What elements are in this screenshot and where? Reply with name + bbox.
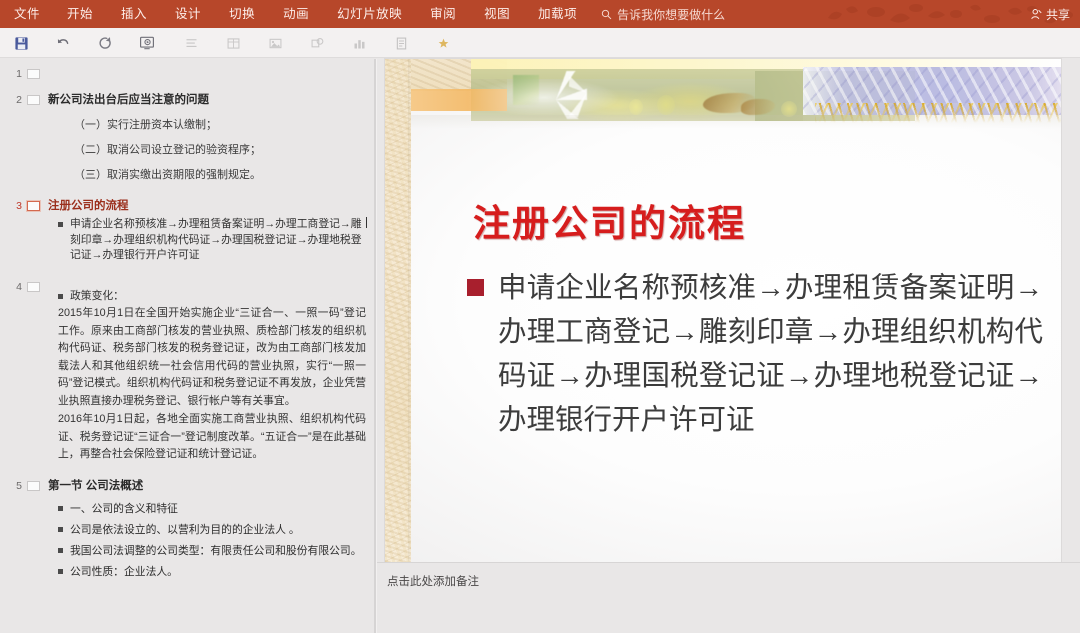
outline-paragraph[interactable]: 2016年10月1日起，各地全面实施工商营业执照、组织机构代码证、税务登记证“三…	[48, 411, 366, 464]
outline-line-text: 公司性质：企业法人。	[70, 564, 178, 580]
outline-slide-body: 新公司法出台后应当注意的问题 （一）实行注册资本认缴制； （二）取消公司设立登记…	[40, 91, 366, 183]
redo-button[interactable]	[84, 28, 126, 58]
share-label: 共享	[1046, 6, 1070, 23]
tab-view[interactable]: 视图	[470, 0, 524, 28]
toolbar-notes-button[interactable]	[380, 28, 422, 58]
slide-editing-pane: 注册公司的流程 申请企业名称预核准→办理租赁备案证明→办理工商登记→雕刻印章→办…	[377, 59, 1080, 562]
outline-line[interactable]: 一、公司的含义和特征	[48, 501, 366, 517]
tab-insert[interactable]: 插入	[107, 0, 161, 28]
outline-pane-footer	[0, 590, 374, 633]
outline-slide-3[interactable]: 3 注册公司的流程 申请企业名称预核准→办理租赁备案证明→办理工商登记→雕刻印章…	[8, 197, 366, 264]
notes-pane[interactable]: 点击此处添加备注	[377, 562, 1080, 633]
outline-slide-body: 注册公司的流程 申请企业名称预核准→办理租赁备案证明→办理工商登记→雕刻印章→办…	[40, 197, 366, 264]
bullet-square-icon	[58, 527, 63, 532]
current-slide[interactable]: 注册公司的流程 申请企业名称预核准→办理租赁备案证明→办理工商登记→雕刻印章→办…	[385, 59, 1061, 562]
slide-body-text: 申请企业名称预核准→办理租赁备案证明→办理工商登记→雕刻印章→办理组织机构代码证…	[498, 267, 1043, 443]
search-icon	[601, 9, 612, 20]
outline-line[interactable]: （三）取消实缴出资期限的强制规定。	[48, 167, 366, 183]
outline-line[interactable]: （一）实行注册资本认缴制；	[48, 117, 366, 133]
bullet-square-icon	[467, 279, 484, 296]
undo-icon	[55, 35, 71, 51]
table-icon	[226, 36, 241, 51]
outline-slide-body: 政策变化： 2015年10月1日在全国开始实施企业“三证合一、一照一码”登记工作…	[40, 278, 366, 464]
outline-slide-body: 第一节 公司法概述 一、公司的含义和特征 公司是依法设立的、以营利为目的的企业法…	[40, 477, 366, 580]
ribbon-bar: 文件 开始 插入 设计 切换 动画 幻灯片放映 审阅 视图 加载项 告诉我你想要…	[0, 0, 1080, 28]
banner-dot-a	[629, 99, 643, 115]
slide-thumb-icon[interactable]	[27, 481, 40, 491]
powerpoint-window: 文件 开始 插入 设计 切换 动画 幻灯片放映 审阅 视图 加载项 告诉我你想要…	[0, 0, 1080, 633]
outline-slide-2[interactable]: 2 新公司法出台后应当注意的问题 （一）实行注册资本认缴制； （二）取消公司设立…	[8, 91, 366, 183]
tell-me-box[interactable]: 告诉我你想要做什么	[591, 6, 725, 23]
share-button[interactable]: 共享	[1030, 0, 1070, 28]
outline-pane[interactable]: 1 2 新公司法出台后应当注意的问题 （一）实行注册资本认缴制； （二）取消公司…	[0, 59, 374, 633]
tell-me-label: 告诉我你想要做什么	[617, 6, 725, 23]
toolbar-table-button[interactable]	[212, 28, 254, 58]
outline-slide-number: 3	[8, 197, 22, 264]
banner-dot-b	[657, 95, 675, 115]
tab-review[interactable]: 审阅	[416, 0, 470, 28]
outline-slide-title[interactable]: 注册公司的流程	[48, 197, 366, 214]
outline-line-text: 公司是依法设立的、以营利为目的的企业法人 。	[70, 522, 300, 538]
slide-left-texture-border	[385, 59, 411, 562]
banner-leaf-white-b	[569, 77, 613, 117]
outline-slide-4[interactable]: 4 政策变化： 2015年10月1日在全国开始实施企业“三证合一、一照一码”登记…	[8, 278, 366, 464]
outline-slide-body	[40, 65, 366, 81]
slide-body-placeholder[interactable]: 申请企业名称预核准→办理租赁备案证明→办理工商登记→雕刻印章→办理组织机构代码证…	[467, 267, 1043, 443]
toolbar-animation-button[interactable]	[422, 28, 464, 58]
outline-slide-number: 4	[8, 278, 22, 464]
redo-icon	[97, 35, 113, 51]
save-icon	[14, 36, 29, 51]
outline-line[interactable]: 公司性质：企业法人。	[48, 564, 366, 580]
tab-slideshow[interactable]: 幻灯片放映	[323, 0, 416, 28]
toolbar-chart-button[interactable]	[338, 28, 380, 58]
tab-design[interactable]: 设计	[161, 0, 215, 28]
bullet-square-icon	[58, 294, 63, 299]
list-icon	[184, 36, 199, 51]
bullet-square-icon	[58, 548, 63, 553]
banner-orange-band	[411, 89, 507, 111]
toolbar-shapes-button[interactable]	[296, 28, 338, 58]
undo-button[interactable]	[42, 28, 84, 58]
outline-scroll-content: 1 2 新公司法出台后应当注意的问题 （一）实行注册资本认缴制； （二）取消公司…	[0, 59, 374, 580]
quick-access-toolbar	[0, 28, 1080, 58]
chart-icon	[352, 36, 367, 51]
save-button[interactable]	[0, 28, 42, 58]
tab-home[interactable]: 开始	[53, 0, 107, 28]
outline-line-text: 一、公司的含义和特征	[70, 501, 178, 517]
outline-slide-number: 2	[8, 91, 22, 183]
outline-line[interactable]: 公司是依法设立的、以营利为目的的企业法人 。	[48, 522, 366, 538]
bullet-square-icon	[58, 569, 63, 574]
slide-header-banner	[385, 59, 1061, 121]
outline-slide-number: 5	[8, 477, 22, 580]
tab-file[interactable]: 文件	[0, 0, 53, 28]
bullet-square-icon	[58, 506, 63, 511]
slide-thumb-icon[interactable]	[27, 282, 40, 292]
tab-transitions[interactable]: 切换	[215, 0, 269, 28]
outline-slide-title[interactable]: 新公司法出台后应当注意的问题	[48, 91, 366, 108]
picture-icon	[268, 36, 283, 51]
slide-thumb-icon[interactable]	[27, 69, 40, 79]
outline-line[interactable]: 申请企业名称预核准→办理租赁备案证明→办理工商登记→雕刻印章→办理组织机构代码证…	[48, 217, 366, 264]
slide-title[interactable]: 注册公司的流程	[473, 203, 1013, 247]
outline-slide-5[interactable]: 5 第一节 公司法概述 一、公司的含义和特征 公司是依法设立的、以营利为目的的企…	[8, 477, 366, 580]
outline-line-text: 我国公司法调整的公司类型：有限责任公司和股份有限公司。	[70, 543, 362, 559]
toolbar-picture-button[interactable]	[254, 28, 296, 58]
outline-slide-number: 1	[8, 65, 22, 81]
outline-slide-1[interactable]: 1	[8, 65, 366, 81]
outline-line[interactable]: （二）取消公司设立登记的验资程序；	[48, 142, 366, 158]
notes-placeholder[interactable]: 点击此处添加备注	[387, 573, 479, 589]
outline-paragraph[interactable]: 2015年10月1日在全国开始实施企业“三证合一、一照一码”登记工作。原来由工商…	[48, 305, 366, 410]
outline-line[interactable]: 我国公司法调整的公司类型：有限责任公司和股份有限公司。	[48, 543, 366, 559]
person-icon	[1030, 8, 1042, 20]
outline-line[interactable]: 政策变化：	[48, 289, 366, 305]
outline-slide-title[interactable]	[48, 65, 366, 66]
banner-shadow	[411, 115, 1061, 129]
tab-addins[interactable]: 加载项	[524, 0, 591, 28]
slide-thumb-icon[interactable]	[27, 95, 40, 105]
slideshow-icon	[139, 35, 155, 51]
start-slideshow-button[interactable]	[126, 28, 168, 58]
toolbar-list-button[interactable]	[170, 28, 212, 58]
notes-icon	[394, 36, 409, 51]
ribbon-tab-list: 文件 开始 插入 设计 切换 动画 幻灯片放映 审阅 视图 加载项 告诉我你想要…	[0, 0, 725, 28]
outline-line-text: 申请企业名称预核准→办理租赁备案证明→办理工商登记→雕刻印章→办理组织机构代码证…	[70, 217, 365, 264]
tab-animations[interactable]: 动画	[269, 0, 323, 28]
animation-star-icon	[436, 36, 451, 51]
bullet-square-icon	[58, 222, 63, 227]
outline-slide-title[interactable]: 第一节 公司法概述	[48, 477, 366, 494]
slide-thumb-icon-selected[interactable]	[27, 201, 40, 211]
shapes-icon	[310, 36, 325, 51]
outline-line-text: 政策变化：	[70, 289, 124, 305]
